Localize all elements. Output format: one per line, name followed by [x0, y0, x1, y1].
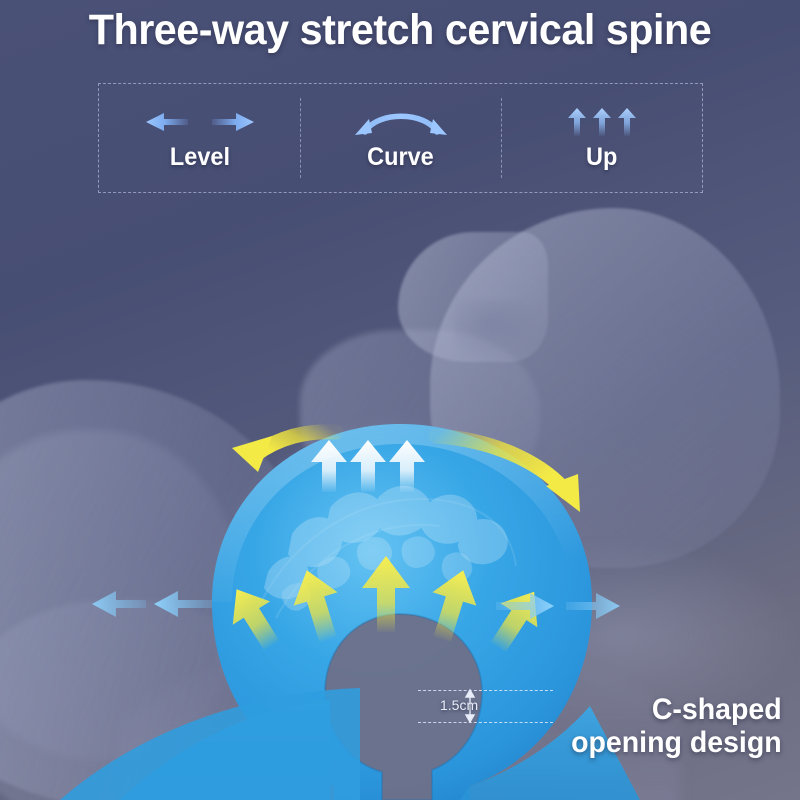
- product-caption: C-shaped opening design: [571, 693, 782, 760]
- product-caption-line-1: C-shaped: [571, 693, 782, 727]
- product-poster: Three-way stretch cervical spine: [0, 0, 800, 800]
- dimension-label: 1.5cm: [440, 697, 478, 713]
- pillow-illustration: [0, 0, 800, 800]
- white-upward-arrows: [311, 440, 425, 492]
- dimension-guide-top: [418, 690, 553, 691]
- product-caption-line-2: opening design: [571, 726, 782, 760]
- blue-left-arrows: [92, 591, 212, 617]
- dimension-guide-bottom: [418, 722, 553, 723]
